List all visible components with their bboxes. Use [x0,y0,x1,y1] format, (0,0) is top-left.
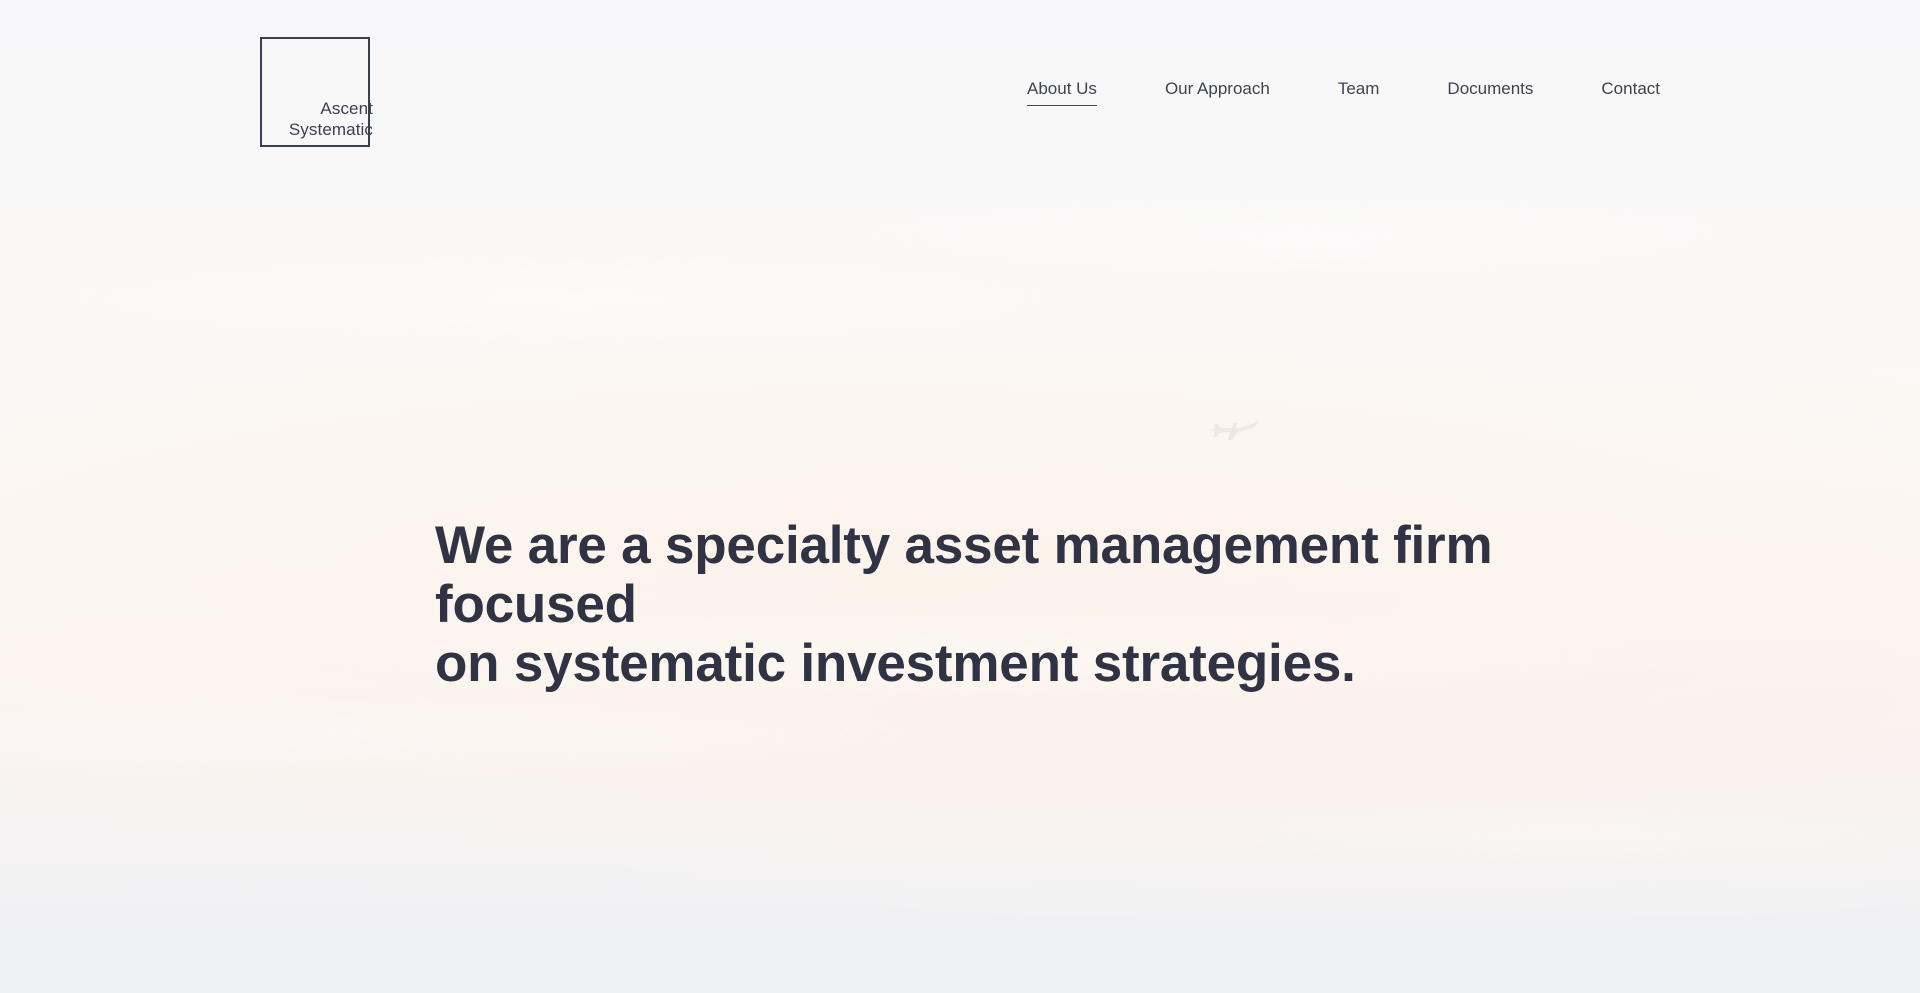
brand-logo-line-2: Systematic [289,119,373,140]
nav-item-our-approach[interactable]: Our Approach [1165,76,1270,104]
site-header: Ascent Systematic About Us Our Approach … [0,0,1920,185]
nav-item-team[interactable]: Team [1338,76,1380,104]
nav-item-contact[interactable]: Contact [1601,76,1660,104]
brand-logo-text: Ascent Systematic [289,98,373,140]
hero-copy: We are a specialty asset management firm… [435,516,1495,693]
brand-logo-line-1: Ascent [289,98,373,119]
hero-page: Ascent Systematic About Us Our Approach … [0,0,1920,993]
hero-headline-line-2: on systematic investment strategies. [435,634,1495,693]
nav-item-about-us[interactable]: About Us [1027,76,1097,104]
hero-headline-line-1: We are a specialty asset management firm… [435,516,1495,634]
nav-item-documents[interactable]: Documents [1447,76,1533,104]
hero-headline: We are a specialty asset management firm… [435,516,1495,693]
brand-logo[interactable]: Ascent Systematic [260,37,370,147]
main-navigation: About Us Our Approach Team Documents Con… [1027,76,1660,104]
